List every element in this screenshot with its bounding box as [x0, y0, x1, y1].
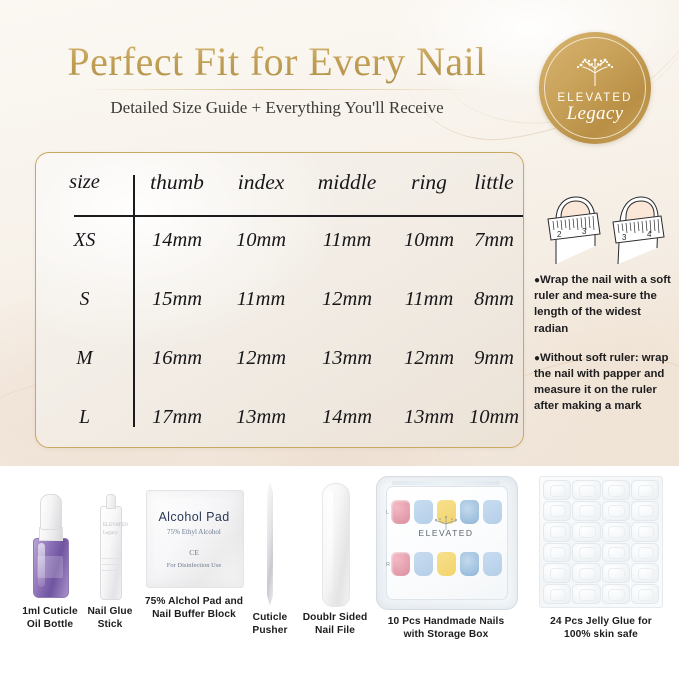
infographic-page: Perfect Fit for Every Nail Detailed Size…	[0, 0, 679, 679]
product-caption: 24 Pcs Jelly Glue for 100% skin safe	[528, 615, 674, 642]
cell-ring: 12mm	[393, 329, 465, 388]
cell-size: L	[36, 388, 133, 447]
col-header-middle: middle	[301, 153, 393, 211]
col-header-thumb: thumb	[133, 153, 221, 211]
caption-line-2: Pusher	[252, 625, 287, 636]
cell-ring: 10mm	[393, 211, 465, 270]
size-guide-card: size thumb index middle ring little XS 1…	[35, 152, 524, 448]
product-jelly-glue: 24 Pcs Jelly Glue for 100% skin safe	[528, 476, 674, 642]
alcohol-pad-icon: Alcohol Pad 75% Ethyl Alcohol CE For Dis…	[146, 490, 242, 586]
cell-ring: 13mm	[393, 388, 465, 447]
title-divider	[86, 89, 476, 90]
badge-brand-script: Legacy	[567, 103, 624, 125]
size-table: size thumb index middle ring little XS 1…	[36, 153, 523, 447]
cell-index: 11mm	[221, 270, 301, 329]
cell-middle: 12mm	[301, 270, 393, 329]
cell-middle: 14mm	[301, 388, 393, 447]
cell-thumb: 14mm	[133, 211, 221, 270]
cell-ring: 11mm	[393, 270, 465, 329]
page-subtitle: Detailed Size Guide + Everything You'll …	[42, 98, 512, 118]
pad-subtitle: 75% Ethyl Alcohol	[146, 528, 242, 536]
table-row: XS 14mm 10mm 11mm 10mm 7mm	[36, 211, 523, 270]
cell-thumb: 17mm	[133, 388, 221, 447]
col-header-size: size	[36, 153, 133, 211]
jelly-glue-icon	[539, 476, 663, 608]
jelly-glue-sheet	[539, 476, 663, 608]
caption-line-1: 10 Pcs Handmade Nails	[388, 616, 504, 627]
product-nail-file: Doublr Sided Nail File	[292, 483, 378, 638]
svg-text:3: 3	[622, 233, 627, 242]
cell-little: 9mm	[465, 329, 523, 388]
caption-line-1: 24 Pcs Jelly Glue for	[550, 616, 652, 627]
pad-footer: For Disinfection Use	[146, 562, 242, 569]
cell-thumb: 16mm	[133, 329, 221, 388]
measure-bullet-2: ●Without soft ruler: wrap the nail with …	[534, 350, 675, 415]
caption-line-2: Nail File	[315, 625, 355, 636]
caption-line-1: 75% Alchol Pad and	[145, 596, 243, 607]
tree-branch-icon	[572, 56, 618, 91]
cell-index: 10mm	[221, 211, 301, 270]
table-row: L 17mm 13mm 14mm 13mm 10mm	[36, 388, 523, 447]
measure-instructions: ●Wrap the nail with a soft ruler and mea…	[534, 272, 675, 415]
cell-little: 10mm	[465, 388, 523, 447]
nail-item	[460, 552, 479, 576]
brand-logo-badge: ELEVATED Legacy	[539, 32, 651, 144]
product-storage-box: L R	[368, 476, 524, 642]
svg-text:2: 2	[557, 230, 562, 239]
table-row: S 15mm 11mm 12mm 11mm 8mm	[36, 270, 523, 329]
storage-box-icon: L R	[376, 476, 516, 608]
svg-text:3: 3	[582, 227, 587, 236]
page-title: Perfect Fit for Every Nail	[42, 38, 512, 85]
col-header-ring: ring	[393, 153, 465, 211]
nail-item	[483, 552, 502, 576]
col-header-little: little	[465, 153, 523, 211]
cell-little: 7mm	[465, 211, 523, 270]
cell-index: 12mm	[221, 329, 301, 388]
cell-middle: 13mm	[301, 329, 393, 388]
nail-row-label-right: R	[386, 562, 390, 568]
cell-index: 13mm	[221, 388, 301, 447]
measure-bullet-1-text: Wrap the nail with a soft ruler and mea-…	[534, 274, 671, 335]
caption-line-2: with Storage Box	[404, 629, 489, 640]
measure-bullet-1: ●Wrap the nail with a soft ruler and mea…	[534, 272, 675, 337]
cell-size: S	[36, 270, 133, 329]
measure-bullet-2-text: Without soft ruler: wrap the nail with p…	[534, 352, 668, 413]
product-caption: 10 Pcs Handmade Nails with Storage Box	[368, 615, 524, 642]
caption-line-1: Doublr Sided	[303, 612, 368, 623]
glue-stick-icon: ELEVATEDLegacy	[97, 494, 123, 599]
caption-line-2: Stick	[98, 619, 123, 630]
cuticle-pusher-icon	[261, 483, 279, 605]
svg-text:4: 4	[647, 230, 652, 239]
pad-ce-mark: CE	[146, 548, 242, 557]
nail-item	[391, 552, 410, 576]
nail-item	[437, 552, 456, 576]
cell-thumb: 15mm	[133, 270, 221, 329]
cell-middle: 11mm	[301, 211, 393, 270]
caption-line-2: 100% skin safe	[564, 629, 638, 640]
col-header-index: index	[221, 153, 301, 211]
cell-little: 8mm	[465, 270, 523, 329]
product-caption: Doublr Sided Nail File	[292, 611, 378, 638]
product-contents-strip: 1ml Cuticle Oil Bottle ELEVATEDLegacy Na…	[0, 466, 679, 679]
nail-file-icon	[318, 483, 352, 605]
nail-row-right	[391, 552, 503, 576]
cell-size: M	[36, 329, 133, 388]
pad-title: Alcohol Pad	[146, 510, 242, 524]
box-brand-name: ELEVATED	[376, 528, 516, 538]
measure-diagram: 2 3 3 4	[534, 186, 674, 268]
caption-line-2: Nail Buffer Block	[152, 609, 236, 620]
table-row: M 16mm 12mm 13mm 12mm 9mm	[36, 329, 523, 388]
caption-line-1: Cuticle	[253, 612, 288, 623]
table-header-row: size thumb index middle ring little	[36, 153, 523, 211]
nail-item	[414, 552, 433, 576]
cell-size: XS	[36, 211, 133, 270]
